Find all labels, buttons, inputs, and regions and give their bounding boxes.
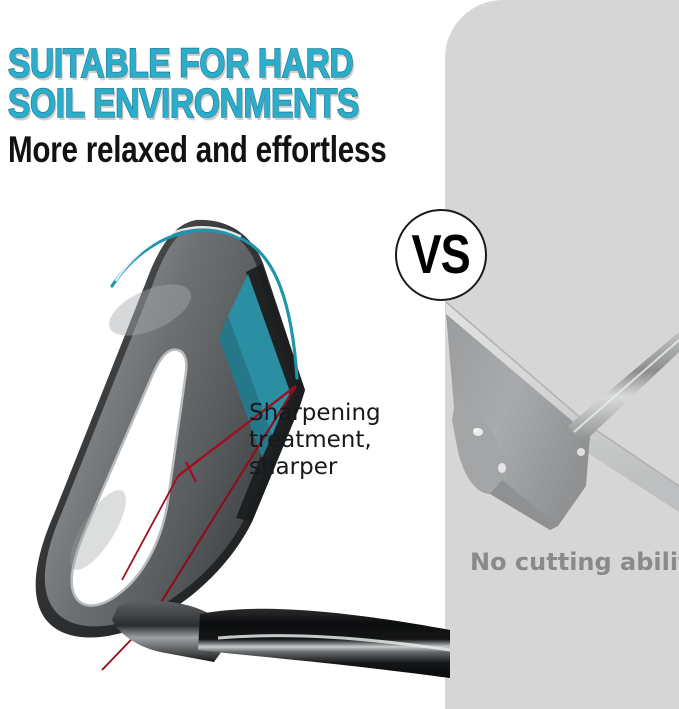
shaft-specular <box>574 340 679 432</box>
annotation-line-3: sharper <box>249 454 414 481</box>
annotation-line-2: treatment, <box>249 427 414 454</box>
comparison-graphic: SUITABLE FOR HARD SOIL ENVIRONMENTS More… <box>0 0 679 709</box>
annotation-line-1: Sharpening <box>249 400 414 427</box>
right-tool-illustration <box>440 280 679 580</box>
headline: SUITABLE FOR HARD SOIL ENVIRONMENTS <box>8 44 361 124</box>
rivet-lower <box>498 463 506 473</box>
sharpening-annotation: Sharpening treatment, sharper <box>249 400 414 481</box>
headline-line-1: SUITABLE FOR HARD <box>8 44 361 84</box>
rivet-side <box>577 448 585 456</box>
rivet-upper-gloss <box>473 428 478 432</box>
vs-badge: VS <box>395 209 487 301</box>
vs-label: VS <box>412 228 470 283</box>
headline-block: SUITABLE FOR HARD SOIL ENVIRONMENTS More… <box>8 44 438 168</box>
headline-line-2: SOIL ENVIRONMENTS <box>8 84 361 124</box>
subtitle: More relaxed and effortless <box>8 131 352 168</box>
no-cutting-ability-caption: No cutting ability <box>470 548 679 576</box>
